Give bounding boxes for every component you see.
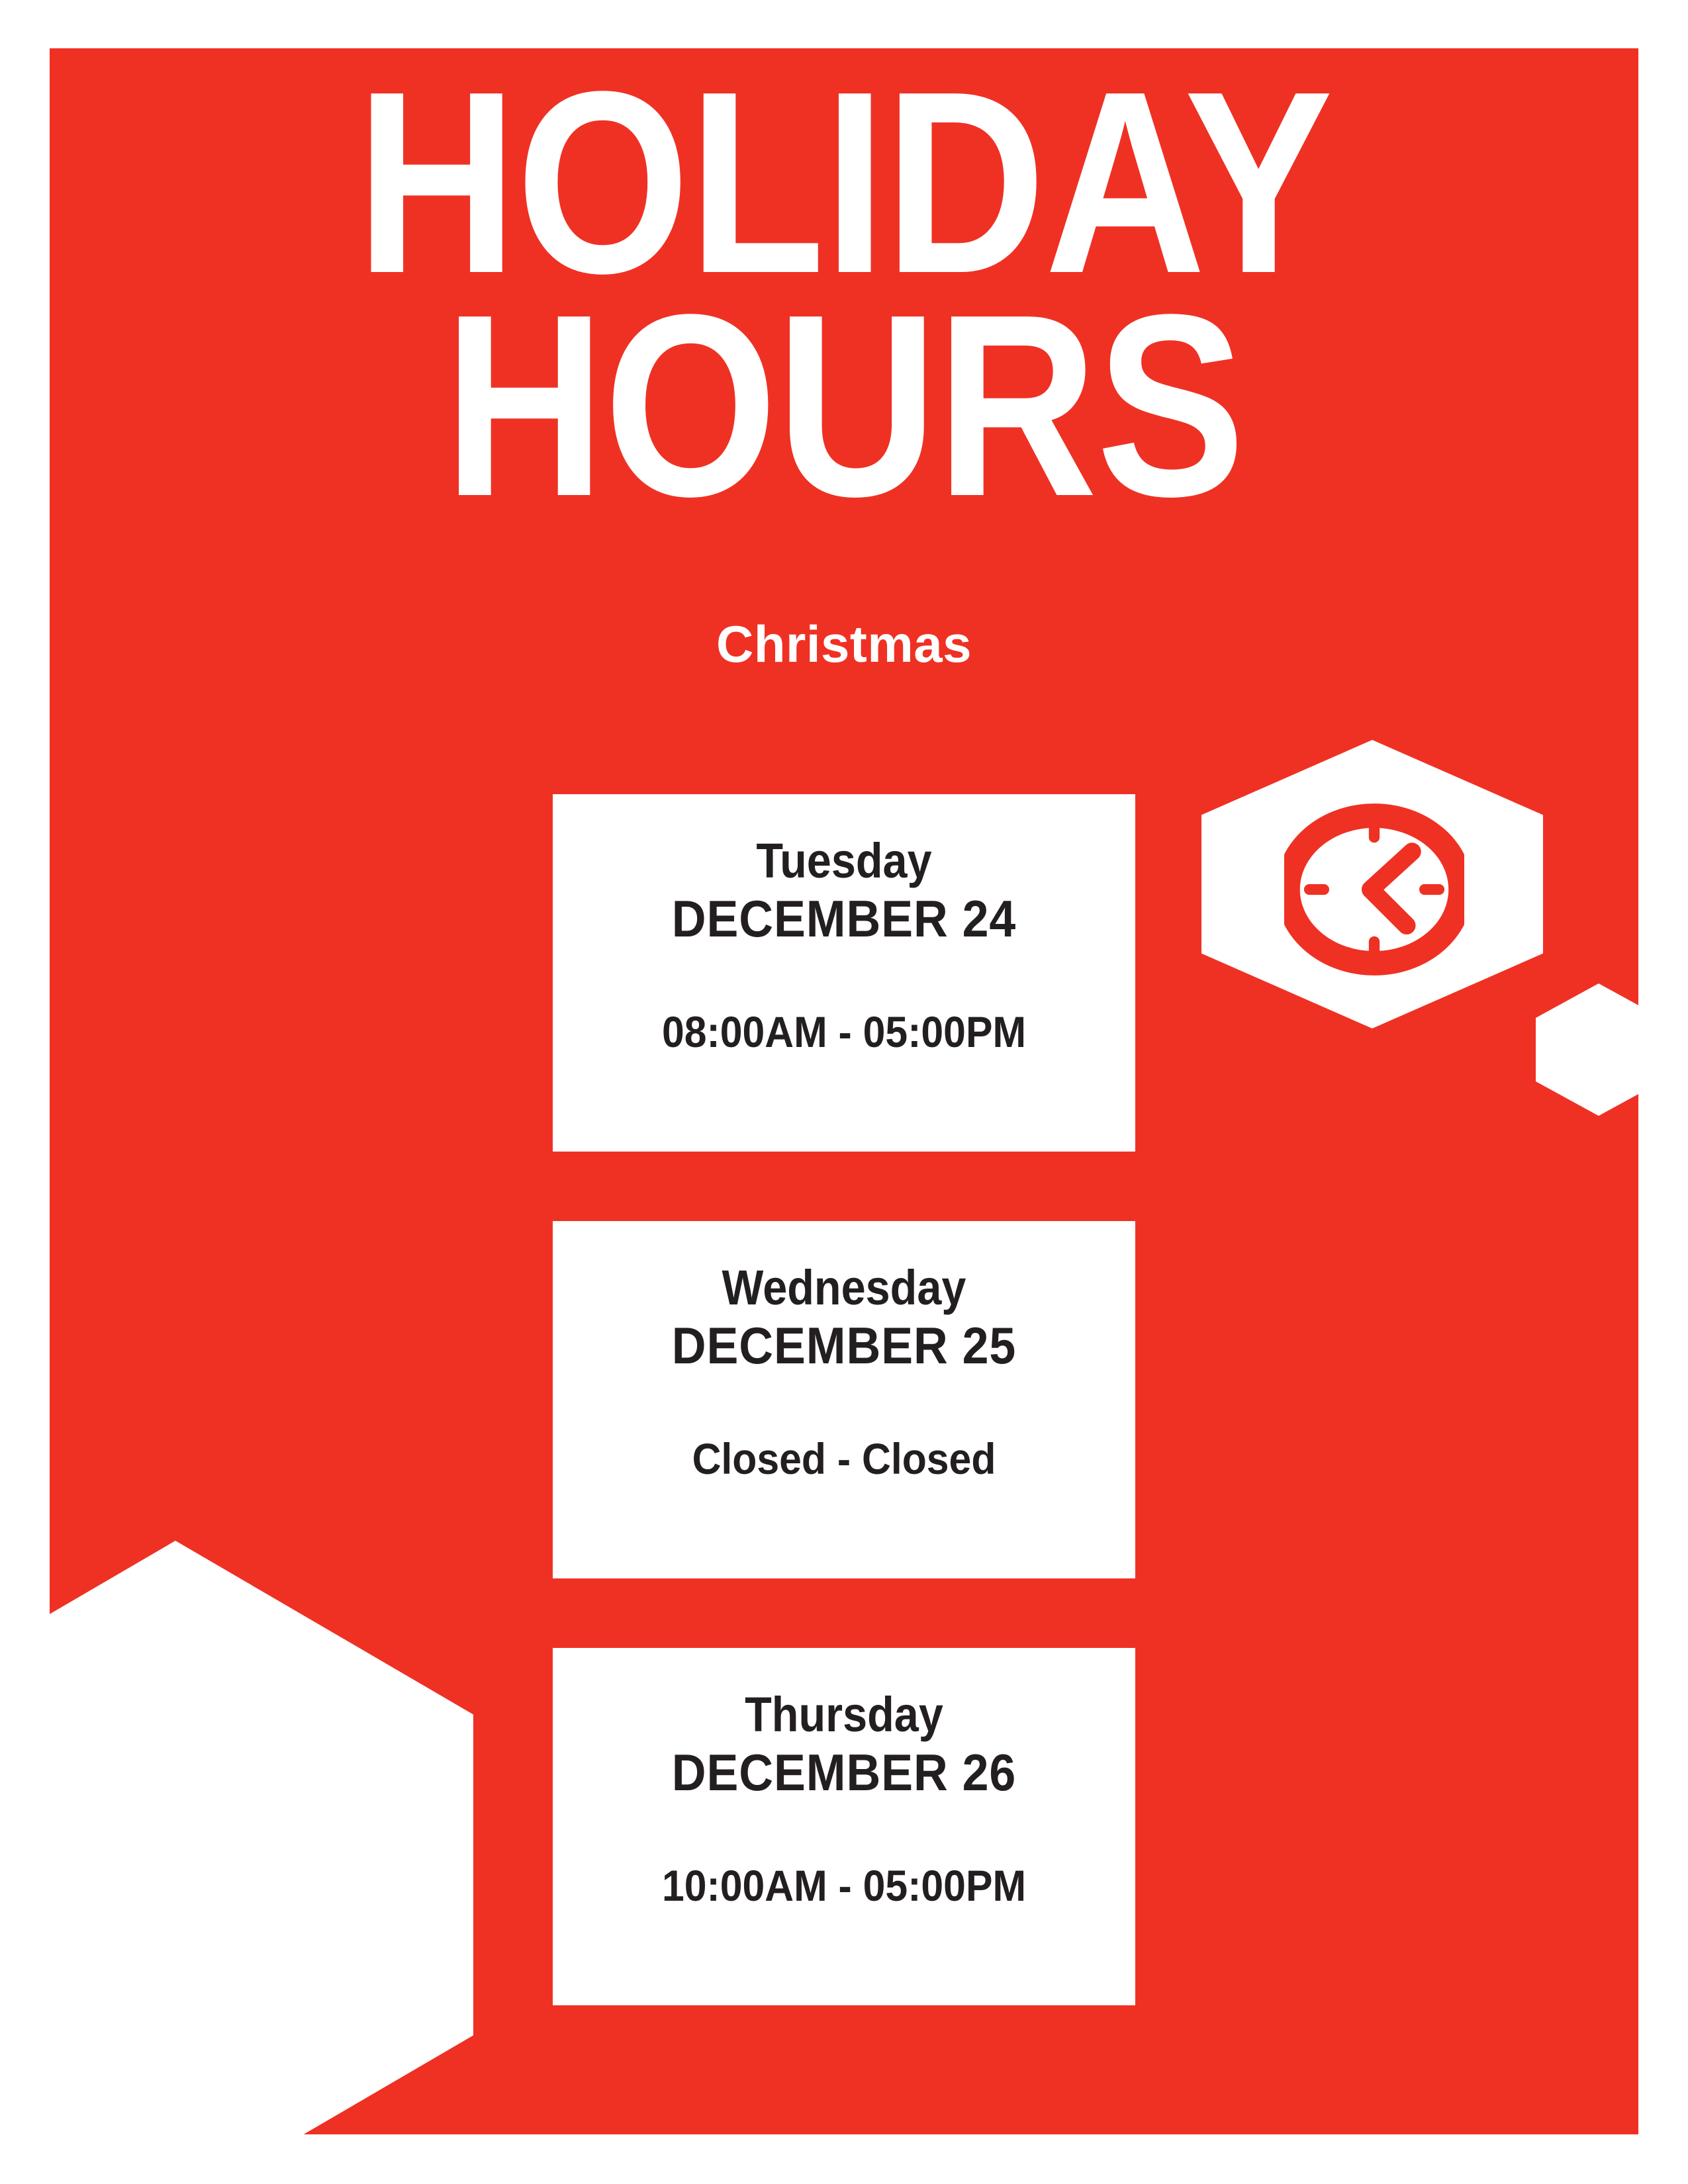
schedule-date: DECEMBER 25 xyxy=(576,1314,1112,1378)
clock-icon xyxy=(1284,799,1464,979)
schedule-date: DECEMBER 24 xyxy=(576,887,1112,951)
schedule-day: Wednesday xyxy=(582,1262,1106,1314)
schedule-hours: 08:00AM - 05:00PM xyxy=(576,1008,1112,1056)
schedule-list: Tuesday DECEMBER 24 08:00AM - 05:00PM We… xyxy=(553,794,1135,2005)
schedule-hours: 10:00AM - 05:00PM xyxy=(576,1862,1112,1910)
schedule-card: Thursday DECEMBER 26 10:00AM - 05:00PM xyxy=(553,1648,1135,2005)
poster-page: HOLIDAY HOURS Christmas Tuesday DECEMBER… xyxy=(0,0,1688,2184)
schedule-card: Tuesday DECEMBER 24 08:00AM - 05:00PM xyxy=(553,794,1135,1152)
poster-canvas: HOLIDAY HOURS Christmas Tuesday DECEMBER… xyxy=(50,48,1638,2134)
hexagon-decoration-small-right xyxy=(1536,983,1638,1116)
schedule-day: Tuesday xyxy=(582,835,1106,887)
schedule-card: Wednesday DECEMBER 25 Closed - Closed xyxy=(553,1221,1135,1578)
schedule-hours: Closed - Closed xyxy=(576,1435,1112,1483)
schedule-date: DECEMBER 26 xyxy=(576,1741,1112,1805)
hexagon-decoration-bottom-left xyxy=(50,1541,473,2134)
title-line-2: HOURS xyxy=(161,295,1527,518)
page-subtitle: Christmas xyxy=(50,614,1638,674)
schedule-day: Thursday xyxy=(582,1689,1106,1741)
page-title: HOLIDAY HOURS xyxy=(50,71,1638,518)
